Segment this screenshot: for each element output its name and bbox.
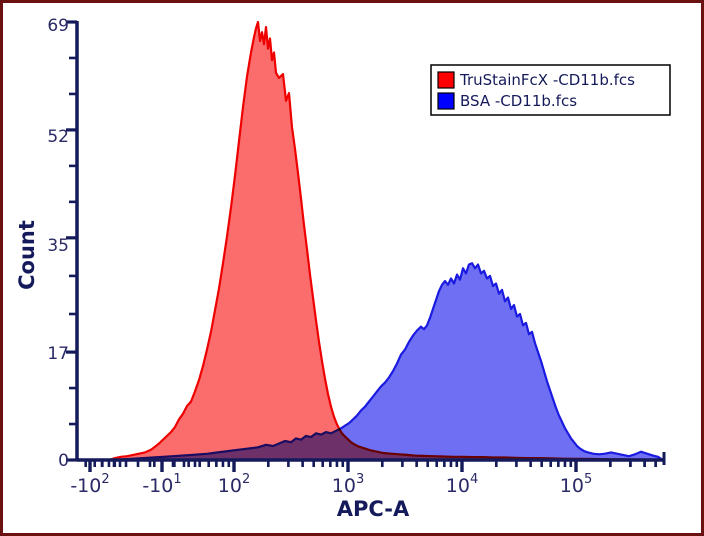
x-tick-marks [86, 460, 656, 472]
x-tick-label-0: -102 [70, 472, 109, 497]
y-tick-label-52: 52 [47, 127, 69, 147]
legend: TruStainFcX -CD11b.fcs BSA -CD11b.fcs [431, 65, 670, 115]
histogram-chart: 69 52 35 17 0 Count -102 -101 102 103 [3, 3, 704, 536]
x-tick-labels: -102 -101 102 103 104 105 [70, 472, 592, 497]
y-tick-label-0: 0 [58, 451, 69, 471]
x-tick-label-5: 105 [560, 472, 592, 497]
x-tick-label-4: 104 [446, 472, 478, 497]
legend-label-bsa: BSA -CD11b.fcs [460, 92, 577, 110]
plot-stage: 69 52 35 17 0 Count -102 -101 102 103 [3, 3, 704, 536]
x-axis-title: APC-A [337, 497, 410, 521]
y-axis-title: Count [15, 220, 39, 290]
y-tick-label-69: 69 [47, 16, 69, 36]
flow-cytometry-histogram-window: 69 52 35 17 0 Count -102 -101 102 103 [0, 0, 704, 536]
legend-swatch-bsa [438, 93, 454, 109]
x-tick-label-2: 102 [218, 472, 250, 497]
legend-label-trustainfcx: TruStainFcX -CD11b.fcs [459, 71, 635, 89]
y-tick-label-35: 35 [47, 236, 69, 256]
x-tick-label-1: -101 [142, 472, 181, 497]
legend-swatch-trustainfcx [438, 72, 454, 88]
x-tick-label-3: 103 [332, 472, 364, 497]
y-tick-label-17: 17 [47, 344, 69, 364]
